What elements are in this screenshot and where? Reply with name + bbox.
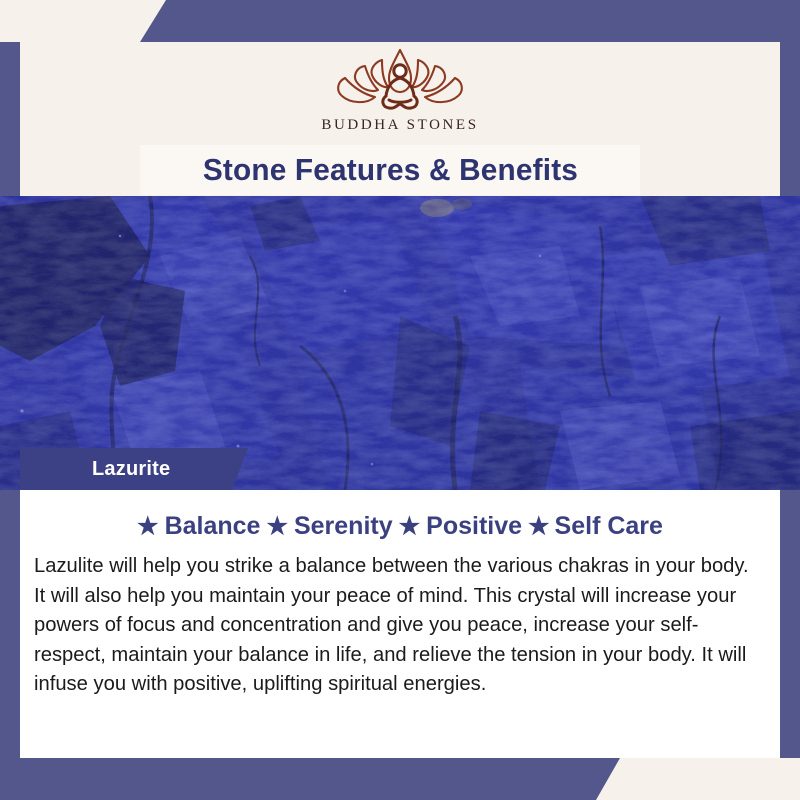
star-icon: ★	[137, 515, 159, 539]
frame-corner-top-left	[0, 0, 20, 42]
frame-corner-bottom-right	[780, 758, 800, 800]
keyword-label: Self Care	[555, 512, 663, 541]
keyword-label: Serenity	[294, 512, 393, 541]
brand-header: BUDDHA STONES	[20, 42, 780, 145]
title-banner: Stone Features & Benefits	[140, 145, 640, 195]
frame-border-bottom	[0, 758, 800, 800]
stone-photo	[0, 196, 800, 490]
star-icon: ★	[528, 515, 550, 539]
stone-name-band: Lazurite	[20, 448, 248, 490]
keyword-item-self-care: ★ Self Care	[528, 512, 663, 541]
keyword-label: Positive	[426, 512, 522, 541]
brand-name: BUDDHA STONES	[321, 117, 478, 134]
poster: BUDDHA STONES Stone Features & Benefits	[0, 0, 800, 800]
keyword-item-positive: ★ Positive	[399, 512, 522, 541]
page-title: Stone Features & Benefits	[202, 152, 577, 188]
lotus-meditation-icon	[325, 44, 475, 116]
frame-border-top	[0, 0, 800, 42]
keyword-list: ★ Balance ★ Serenity ★ Positive ★ Self C…	[20, 512, 780, 541]
keyword-item-serenity: ★ Serenity	[266, 512, 392, 541]
keyword-label: Balance	[165, 512, 261, 541]
star-icon: ★	[399, 515, 421, 539]
keyword-item-balance: ★ Balance	[137, 512, 260, 541]
stone-name-label: Lazurite	[92, 458, 170, 481]
star-icon: ★	[266, 515, 288, 539]
stone-photo-graphic	[0, 196, 800, 490]
content-panel: ★ Balance ★ Serenity ★ Positive ★ Self C…	[20, 490, 780, 758]
stone-description: Lazulite will help you strike a balance …	[34, 551, 755, 699]
